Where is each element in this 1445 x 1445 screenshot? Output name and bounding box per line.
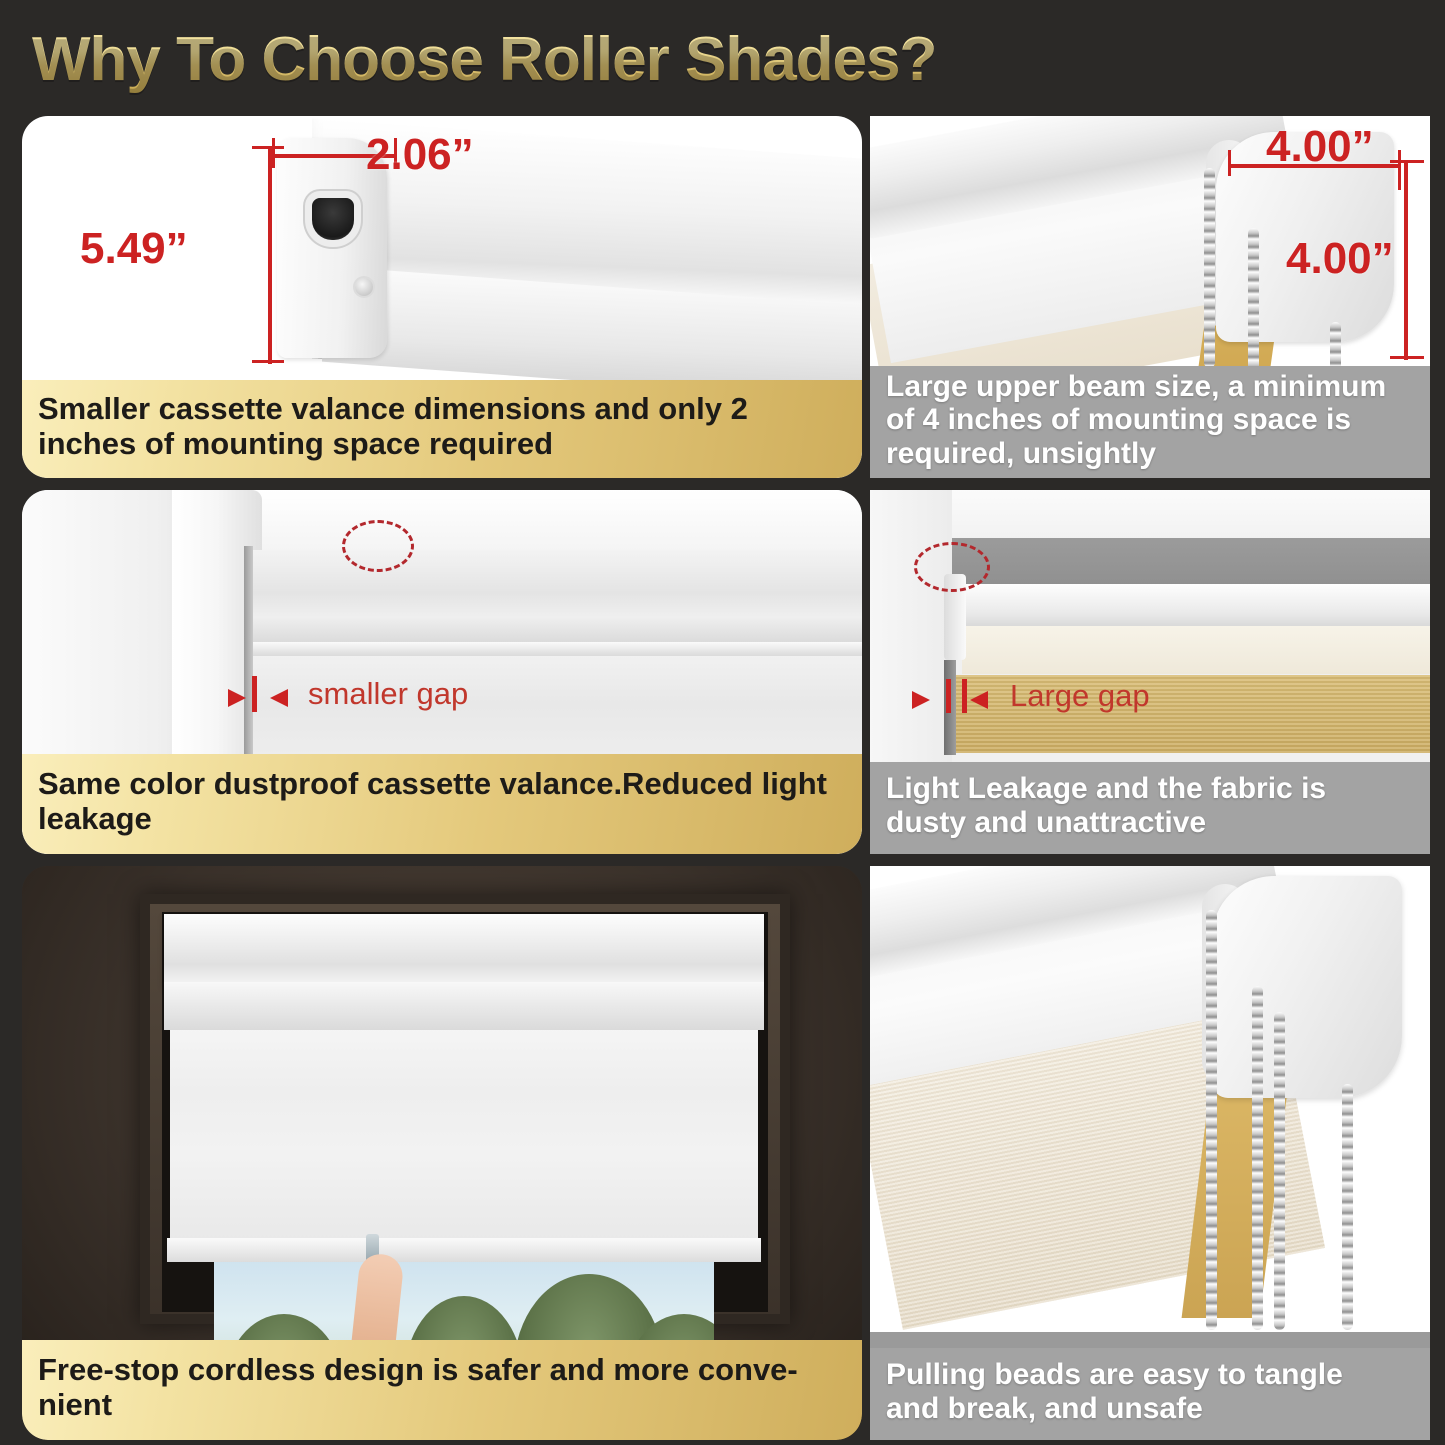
gap-arrow-left-icon	[228, 689, 246, 707]
bead-chain-icon	[1274, 1012, 1285, 1330]
page-header: Why To Choose Roller Shades?	[0, 0, 1445, 112]
panel-bad-beam-size[interactable]: 4.00” 4.00” Large upper beam size, a min…	[870, 116, 1430, 478]
dimension-label-width: 4.00”	[1266, 122, 1374, 172]
dimension-label-height: 5.49”	[80, 224, 188, 274]
bracket-slot-icon	[312, 198, 354, 240]
highlight-circle-icon	[914, 542, 990, 592]
bead-chain-icon	[1342, 1084, 1353, 1330]
panel-bad-large-gap[interactable]: Large gap Light Leakage and the fabric i…	[870, 490, 1430, 854]
dimension-label-height: 4.00”	[1286, 234, 1394, 284]
dimension-label-width: 2.06”	[366, 130, 474, 180]
bead-chain-icon	[1252, 986, 1263, 1330]
gap-label-smaller: smaller gap	[308, 676, 468, 712]
panel-good-cordless[interactable]: Free-stop cordless design is safer and m…	[22, 866, 862, 1440]
panel-good-cassette-size[interactable]: 2.06” 5.49” Smaller cassette valance dim…	[22, 116, 862, 478]
gap-label-large: Large gap	[1010, 678, 1150, 714]
bead-chain-icon	[1204, 168, 1215, 368]
caption-line-1: Pulling beads are easy to tangle	[886, 1358, 1343, 1391]
caption-line-1: Free-stop cordless design is safer and m…	[38, 1352, 798, 1387]
caption-text: Pulling beads are easy to tangle and bre…	[886, 1358, 1343, 1425]
panel-good-small-gap[interactable]: smaller gap Same color dustproof cassett…	[22, 490, 862, 854]
caption-line-2: and break, and unsafe	[886, 1392, 1203, 1425]
caption-good-small-gap: Same color dustproof cassette valance.Re…	[22, 754, 862, 854]
comparison-grid: 2.06” 5.49” Smaller cassette valance dim…	[0, 112, 1445, 1445]
caption-bad-beam-size: Large upper beam size, a minimum of 4 in…	[870, 366, 1430, 478]
page-title: Why To Choose Roller Shades?	[32, 24, 936, 95]
screw-icon	[355, 278, 373, 296]
caption-good-cordless: Free-stop cordless design is safer and m…	[22, 1340, 862, 1440]
roller-bracket-icon	[1212, 876, 1402, 1098]
gap-arrow-left-icon	[912, 691, 930, 709]
caption-bad-bead-chain: Pulling beads are easy to tangle and bre…	[870, 1348, 1430, 1440]
gap-arrow-right-icon	[970, 691, 988, 709]
bead-chain-icon	[1248, 228, 1259, 374]
highlight-circle-icon	[342, 520, 414, 572]
panel-bad-bead-chain[interactable]: Pulling beads are easy to tangle and bre…	[870, 866, 1430, 1440]
gap-arrow-right-icon	[270, 689, 288, 707]
caption-bad-large-gap: Light Leakage and the fabric is dusty an…	[870, 762, 1430, 854]
caption-line-2: nient	[38, 1387, 112, 1422]
bead-chain-icon	[1206, 910, 1217, 1330]
caption-good-cassette-size: Smaller cassette valance dimensions and …	[22, 380, 862, 478]
caption-text: Free-stop cordless design is safer and m…	[38, 1353, 798, 1422]
